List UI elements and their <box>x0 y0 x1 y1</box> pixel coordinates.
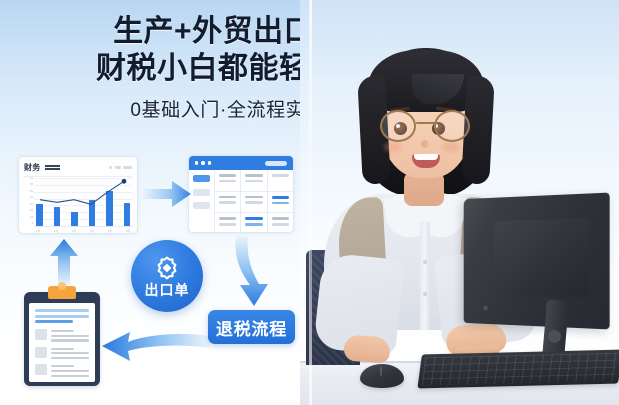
chart-x-axis: 1月 2月 3月 4月 5月 6月 <box>36 227 130 234</box>
y-tick: 60 <box>30 184 33 187</box>
keyboard-keys <box>422 353 618 386</box>
clipboard-thumb <box>35 347 47 358</box>
table-cell <box>241 192 267 213</box>
cheek-right <box>442 142 460 152</box>
window-dots-icon <box>195 161 211 164</box>
finance-chart-card: 财务 33 60 50 40 30 20 10 0 <box>18 156 138 234</box>
clipboard-row-lines <box>51 347 89 360</box>
export-document-badge[interactable]: 出口单 <box>131 240 203 312</box>
table-cell <box>241 213 267 233</box>
clipboard-line <box>35 309 89 312</box>
nose <box>421 140 428 148</box>
shirt-button-upper <box>423 260 427 264</box>
chart-trend-line <box>36 180 128 226</box>
chart-card-legend-dots <box>109 166 132 169</box>
y-tick: 0 <box>31 223 33 226</box>
monitor-panel-back <box>464 193 610 330</box>
eyeglasses-icon <box>376 110 476 142</box>
y-tick: 40 <box>30 197 33 200</box>
chart-card-title: 财务 <box>24 162 41 173</box>
clipboard-paper <box>29 303 95 382</box>
table-cell <box>215 192 241 213</box>
clipboard-header-lines <box>35 309 89 323</box>
table-cell <box>268 213 293 233</box>
infographic-panel: 财务 33 60 50 40 30 20 10 0 <box>0 138 310 405</box>
chart-card-divider <box>24 176 132 177</box>
table-cell <box>241 170 267 191</box>
glasses-lens-left <box>380 110 416 142</box>
clipboard-row <box>35 329 89 342</box>
clipboard-line <box>35 315 89 318</box>
glasses-lens-right <box>434 110 470 142</box>
glasses-bridge <box>416 122 436 124</box>
table-row <box>215 213 293 233</box>
x-tick: 2月 <box>54 228 59 233</box>
x-tick: 3月 <box>72 228 77 233</box>
clipboard-row <box>35 347 89 360</box>
x-tick: 5月 <box>108 228 113 233</box>
dashboard-table-card <box>188 155 294 233</box>
export-document-badge-label: 出口单 <box>145 283 190 297</box>
tax-refund-process-label: 退税流程 <box>216 315 287 340</box>
keyboard <box>417 350 619 389</box>
clipboard-progress-bar <box>35 320 73 323</box>
chart-y-axis: 33 60 50 40 30 20 10 0 <box>24 178 33 226</box>
sidebar-item <box>193 189 210 196</box>
y-tick: 50 <box>30 191 33 194</box>
clipboard-rows <box>35 329 89 377</box>
monitor-power-led <box>483 305 488 310</box>
clipboard-row-lines <box>51 329 89 342</box>
table-row <box>215 170 293 192</box>
clipboard-document <box>24 286 100 386</box>
y-tick: 10 <box>30 217 33 220</box>
x-tick: 1月 <box>36 228 41 233</box>
arrow-table-to-process-icon <box>230 234 274 313</box>
sidebar-item-active <box>193 175 210 182</box>
table-row <box>215 192 293 214</box>
cheek-left <box>384 142 402 152</box>
table-grid <box>215 170 293 233</box>
x-tick: 4月 <box>90 228 95 233</box>
y-tick: 20 <box>30 210 33 213</box>
sidebar-item <box>193 202 210 209</box>
clipboard-thumb <box>35 329 47 340</box>
clipboard-board <box>24 292 100 386</box>
clipboard-row-lines <box>51 364 89 377</box>
table-card-titlebar <box>189 156 293 170</box>
arrow-chart-to-table-icon <box>142 178 192 215</box>
tax-refund-process-button[interactable]: 退税流程 <box>208 310 295 344</box>
clipboard-clip <box>48 286 76 299</box>
computer-monitor <box>458 196 619 376</box>
clipboard-thumb <box>35 364 47 375</box>
table-cell <box>215 213 241 233</box>
x-tick: 6月 <box>126 228 131 233</box>
shirt-button-lower <box>423 292 427 296</box>
titlebar-pill <box>265 161 287 166</box>
chart-card-header: 财务 <box>24 161 132 174</box>
y-tick: 30 <box>30 204 33 207</box>
table-cell <box>215 170 241 191</box>
table-sidebar <box>189 170 215 233</box>
table-cell <box>268 170 293 191</box>
photo-panel <box>300 0 619 405</box>
arrow-process-to-clipboard-icon <box>100 330 212 375</box>
shirt-placket <box>420 222 430 330</box>
table-card-body <box>189 170 293 233</box>
bar-chart-plot: 33 60 50 40 30 20 10 0 <box>24 178 132 234</box>
computer-mouse <box>360 364 404 388</box>
y-tick: 33 <box>30 178 33 181</box>
poster-canvas: 生产+外贸出口退税实战课程, 财税小白都能轻松掌握退税技能 0基础入门·全流程实… <box>0 0 619 405</box>
clipboard-row <box>35 364 89 377</box>
compass-gear-icon <box>155 256 179 280</box>
menu-lines-icon <box>45 165 60 169</box>
table-cell <box>268 192 293 213</box>
